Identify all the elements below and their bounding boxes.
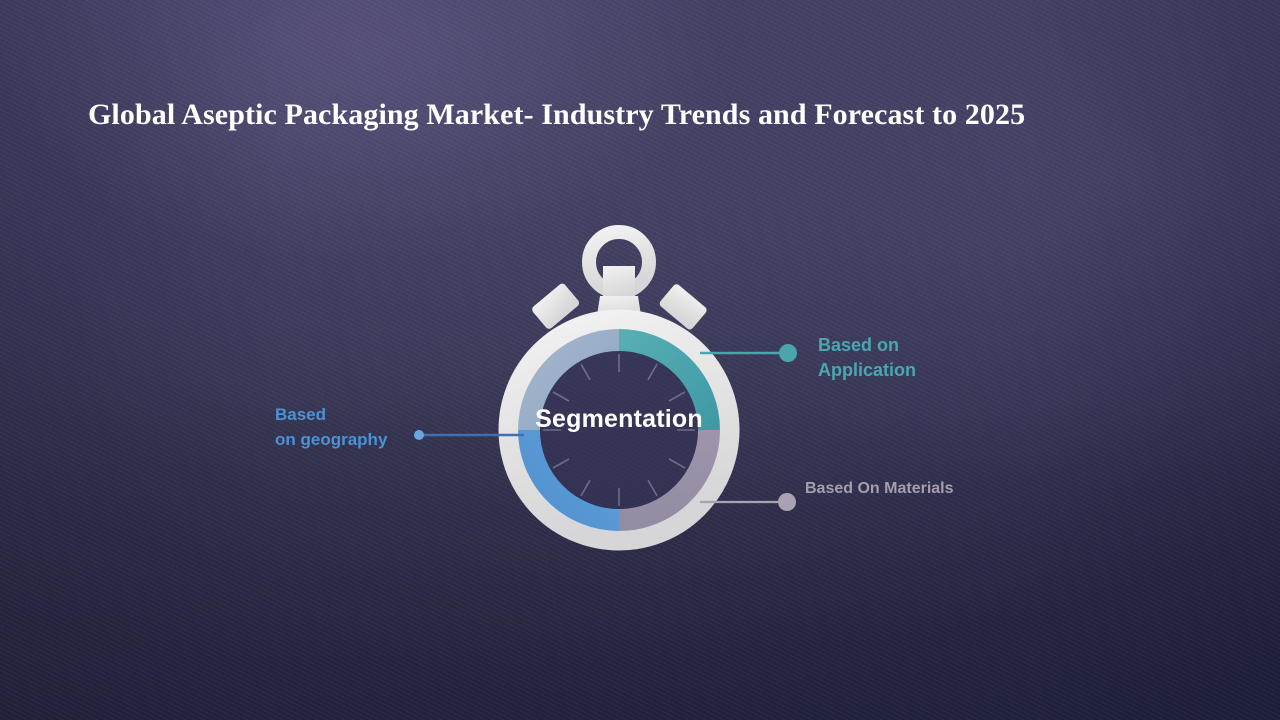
stopwatch-crown-stem [603,266,635,300]
segmentation-graphic [0,0,1280,720]
segment-label-application[interactable]: Based on Application [818,333,916,383]
segment-label-geography[interactable]: Based on geography [275,402,387,452]
connector-dot-geography[interactable] [414,430,424,440]
connector-dot-materials[interactable] [778,493,796,511]
connector-dot-application[interactable] [779,344,797,362]
segment-label-materials[interactable]: Based On Materials [805,478,954,500]
diagram-center-label: Segmentation [469,404,769,434]
slide-canvas: Global Aseptic Packaging Market- Industr… [0,0,1280,720]
